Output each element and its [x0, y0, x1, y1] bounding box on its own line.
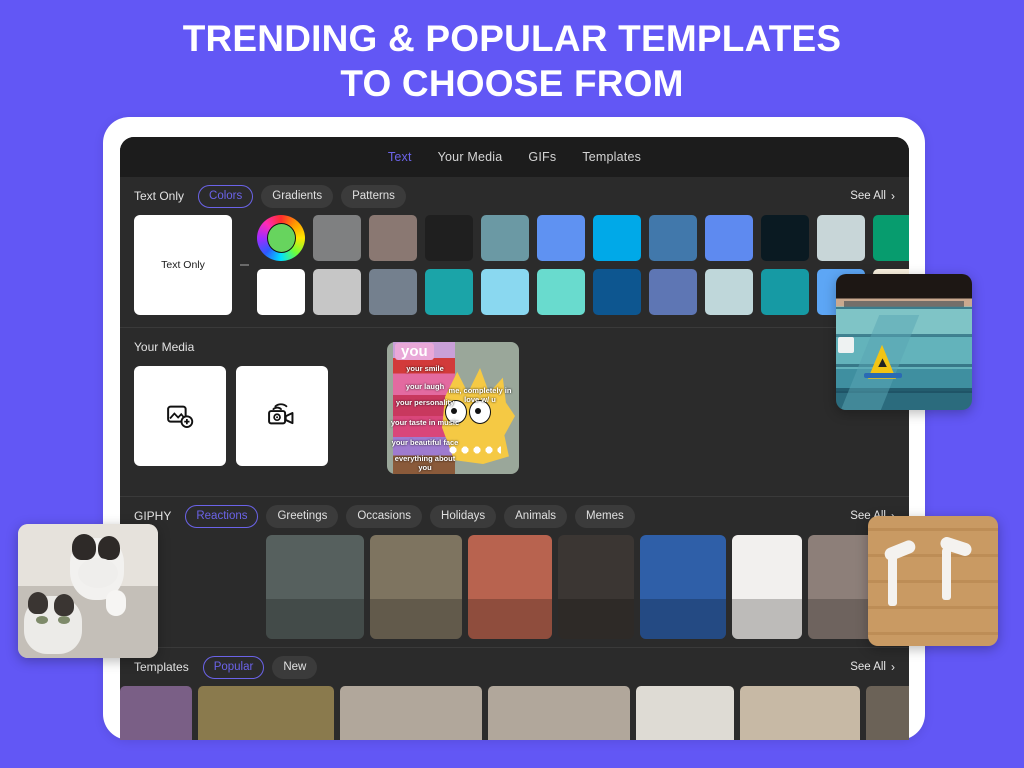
tab-text[interactable]: Text	[388, 150, 412, 164]
video-camera-icon	[266, 401, 298, 431]
chevron-right-icon: ›	[891, 660, 895, 674]
tab-templates[interactable]: Templates	[582, 150, 641, 164]
color-wheel-icon[interactable]	[257, 215, 305, 261]
video-camera-tile[interactable]	[236, 366, 328, 466]
color-swatch[interactable]	[425, 215, 473, 261]
chevron-right-icon: ›	[891, 189, 895, 203]
color-swatch[interactable]	[873, 215, 909, 261]
gif-caption-you: you	[395, 343, 434, 360]
gif-girl-red-dress[interactable]	[468, 535, 552, 639]
cone-line-4: your taste in music	[389, 418, 461, 427]
lisa-pupil-left	[451, 408, 457, 414]
chip-colors[interactable]: Colors	[198, 185, 253, 208]
see-all-templates[interactable]: See All ›	[816, 648, 909, 686]
gif-woman-brown-skirt[interactable]	[732, 535, 802, 639]
color-swatch[interactable]	[593, 215, 641, 261]
top-nav: Text Your Media GIFs Templates	[120, 137, 909, 177]
color-swatch[interactable]	[705, 269, 753, 315]
lisa-pupil-right	[475, 408, 481, 414]
floating-image-pool-wet-floor-sign[interactable]	[836, 274, 972, 410]
section-title-your-media: Your Media	[134, 340, 194, 354]
template-man-podium[interactable]	[120, 686, 192, 740]
chip-new[interactable]: New	[272, 656, 317, 679]
color-swatch[interactable]	[537, 269, 585, 315]
color-swatch[interactable]	[257, 269, 305, 315]
section-your-media: Your Media	[120, 327, 909, 496]
color-swatch[interactable]	[761, 215, 809, 261]
gif-right-caption: me, completely in love w/ u	[443, 386, 517, 404]
headline-line-2: TO CHOOSE FROM	[0, 61, 1024, 106]
template-coffin-dancers[interactable]	[636, 686, 734, 740]
giphy-results-row[interactable]	[120, 535, 909, 647]
color-swatch-grid	[257, 215, 909, 315]
floating-image-cats-thumbs-up[interactable]	[18, 524, 158, 658]
tab-gifs[interactable]: GIFs	[528, 150, 556, 164]
chip-animals[interactable]: Animals	[504, 505, 567, 528]
see-all-label: See All	[850, 190, 886, 202]
cone-line-1: your smile	[389, 364, 461, 373]
template-distracted-boyfriend-2[interactable]	[488, 686, 630, 740]
gif-bowling-man-blue[interactable]	[640, 535, 726, 639]
templates-chip-group: Popular New	[203, 656, 318, 679]
gif-bearded-man-forest[interactable]	[370, 535, 462, 639]
chip-occasions[interactable]: Occasions	[346, 505, 422, 528]
thumbnail-shade	[370, 599, 462, 639]
straws-photo	[868, 516, 998, 646]
floating-image-bent-straws[interactable]	[868, 516, 998, 646]
lisa-simpson-ice-cream-gif[interactable]: you your smile your laugh your personali…	[387, 342, 519, 474]
color-wheel-selected	[267, 223, 296, 253]
chip-reactions[interactable]: Reactions	[185, 505, 258, 528]
section-text-only: Text Only Colors Gradients Patterns See …	[120, 177, 909, 327]
gif-woman-dark-hair[interactable]	[266, 535, 364, 639]
color-swatch[interactable]	[761, 269, 809, 315]
add-photo-icon	[165, 401, 195, 431]
text-only-chip-group: Colors Gradients Patterns	[198, 185, 406, 208]
chip-holidays[interactable]: Holidays	[430, 505, 496, 528]
colors-body: Text Only	[120, 215, 909, 327]
thumbnail-shade	[640, 599, 726, 639]
color-swatch[interactable]	[481, 269, 529, 315]
headline-line-1: TRENDING & POPULAR TEMPLATES	[183, 18, 842, 59]
color-swatch[interactable]	[369, 269, 417, 315]
see-all-label: See All	[850, 661, 886, 673]
pool-photo	[836, 274, 972, 410]
thumbnail-shade	[468, 599, 552, 639]
chip-greetings[interactable]: Greetings	[266, 505, 338, 528]
color-swatch[interactable]	[481, 215, 529, 261]
template-coffin-edge[interactable]	[866, 686, 909, 740]
chip-popular[interactable]: Popular	[203, 656, 265, 679]
divider-dash	[240, 264, 249, 266]
see-all-text-only[interactable]: See All ›	[816, 177, 909, 215]
text-only-header: Text Only Colors Gradients Patterns See …	[120, 177, 909, 215]
chip-patterns[interactable]: Patterns	[341, 185, 406, 208]
app-screen: Text Your Media GIFs Templates Text Only…	[120, 137, 909, 740]
templates-results-row[interactable]	[120, 686, 909, 740]
templates-header: Templates Popular New See All ›	[120, 648, 909, 686]
section-title-text-only: Text Only	[134, 189, 184, 203]
add-photo-tile[interactable]	[134, 366, 226, 466]
text-only-card[interactable]: Text Only	[134, 215, 232, 315]
giphy-chip-group: Reactions Greetings Occasions Holidays A…	[185, 505, 634, 528]
cats-photo	[18, 524, 158, 658]
color-swatch[interactable]	[425, 269, 473, 315]
your-media-body: you your smile your laugh your personali…	[120, 366, 909, 496]
chip-memes[interactable]: Memes	[575, 505, 635, 528]
color-swatch[interactable]	[649, 215, 697, 261]
chip-gradients[interactable]: Gradients	[261, 185, 333, 208]
section-templates: Templates Popular New See All ›	[120, 647, 909, 740]
color-swatch[interactable]	[593, 269, 641, 315]
template-distracted-boyfriend[interactable]	[340, 686, 482, 740]
page-title: TRENDING & POPULAR TEMPLATES TO CHOOSE F…	[0, 16, 1024, 106]
template-coffin-carry[interactable]	[740, 686, 860, 740]
thumbnail-shade	[732, 599, 802, 639]
gif-man-drinking[interactable]	[558, 535, 634, 639]
tab-your-media[interactable]: Your Media	[438, 150, 503, 164]
cone-line-6: everything about you	[389, 454, 461, 472]
cone-line-5: your beautiful face	[389, 438, 461, 447]
section-title-templates: Templates	[134, 660, 189, 674]
color-swatch[interactable]	[705, 215, 753, 261]
thumbnail-shade	[266, 599, 364, 639]
giphy-header: GIPHY Reactions Greetings Occasions Holi…	[120, 497, 909, 535]
section-giphy: GIPHY Reactions Greetings Occasions Holi…	[120, 496, 909, 647]
color-swatch[interactable]	[369, 215, 417, 261]
color-swatch[interactable]	[313, 269, 361, 315]
text-only-card-label: Text Only	[161, 259, 205, 271]
color-swatch[interactable]	[649, 269, 697, 315]
color-swatch[interactable]	[817, 215, 865, 261]
color-swatch[interactable]	[313, 215, 361, 261]
thumbnail-shade	[558, 599, 634, 639]
color-swatch[interactable]	[537, 215, 585, 261]
section-title-giphy: GIPHY	[134, 509, 171, 523]
template-fence-garden[interactable]	[198, 686, 334, 740]
